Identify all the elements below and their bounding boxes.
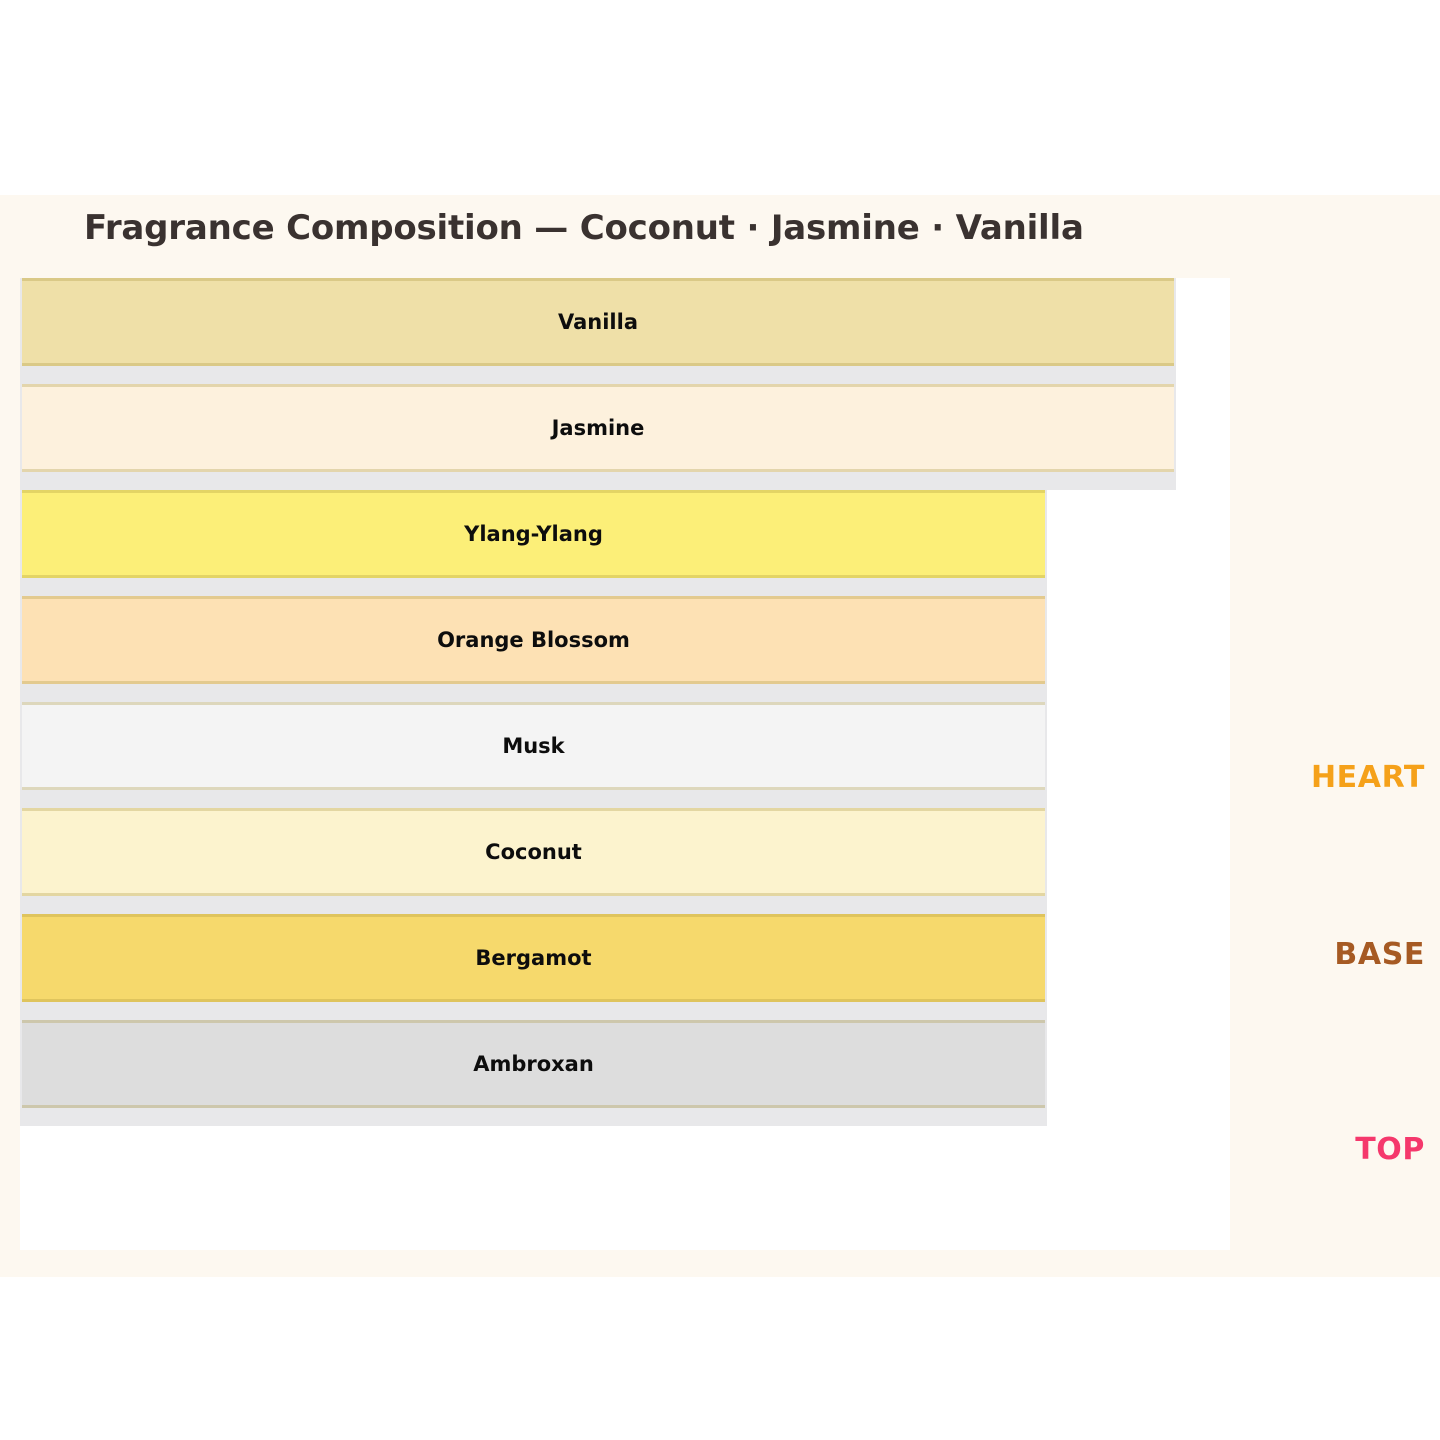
bar-fill[interactable]: [22, 490, 1045, 578]
plot-area: VanillaJasmineYlang-YlangOrange BlossomM…: [20, 278, 1230, 1250]
bar-fill[interactable]: [22, 1020, 1045, 1108]
stage-label-base: BASE: [1334, 937, 1425, 972]
stage-label-top: TOP: [1355, 1132, 1425, 1167]
bar-row[interactable]: Ylang-Ylang: [20, 490, 1047, 596]
bar-fill[interactable]: [22, 596, 1045, 684]
bar-row[interactable]: Bergamot: [20, 914, 1047, 1020]
bar-row[interactable]: Orange Blossom: [20, 596, 1047, 702]
bar-fill[interactable]: [22, 702, 1045, 790]
bar-fill[interactable]: [22, 278, 1174, 366]
bar-row[interactable]: Ambroxan: [20, 1020, 1047, 1126]
bar-row[interactable]: Coconut: [20, 808, 1047, 914]
bar-fill[interactable]: [22, 808, 1045, 896]
bar-row[interactable]: Jasmine: [20, 384, 1176, 490]
bar-fill[interactable]: [22, 384, 1174, 472]
stage-label-heart: HEART: [1311, 760, 1425, 795]
figure-canvas: Fragrance Composition — Coconut · Jasmin…: [0, 195, 1440, 1277]
page-title: Fragrance Composition — Coconut · Jasmin…: [84, 208, 1084, 248]
bar-row[interactable]: Musk: [20, 702, 1047, 808]
bar-fill[interactable]: [22, 914, 1045, 1002]
bar-row[interactable]: Vanilla: [20, 278, 1176, 384]
